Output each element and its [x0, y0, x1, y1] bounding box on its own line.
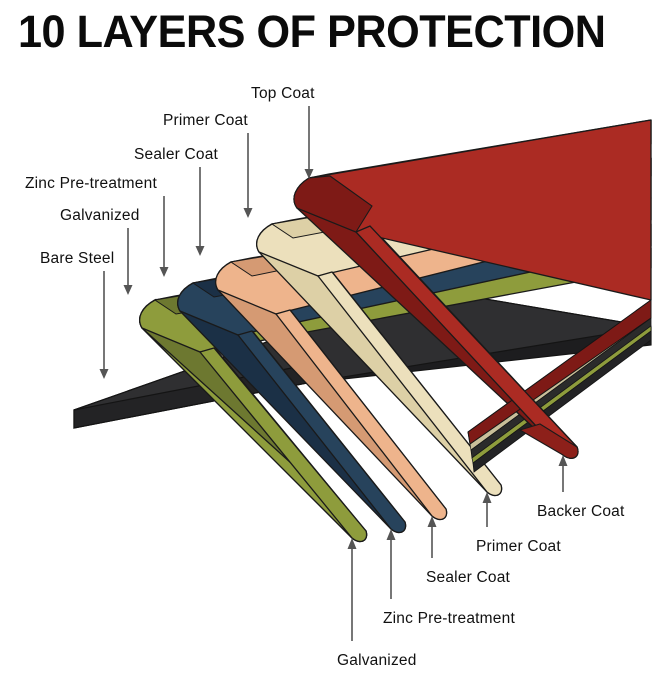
- arrow-primer-coat: [244, 133, 253, 218]
- label-top-coat: Top Coat: [251, 85, 315, 103]
- arrow-bare-steel: [100, 271, 109, 379]
- label-galvanized-bottom: Galvanized: [337, 652, 417, 670]
- label-primer-coat-bottom: Primer Coat: [476, 538, 561, 556]
- label-sealer-coat-bottom: Sealer Coat: [426, 569, 510, 587]
- label-bare-steel: Bare Steel: [40, 250, 114, 268]
- arrow-sealer-coat-bottom: [428, 516, 437, 558]
- diagram-canvas: 10 LAYERS OF PROTECTION: [0, 0, 661, 677]
- arrow-zinc-pretreatment-bottom: [387, 529, 396, 599]
- label-galvanized: Galvanized: [60, 207, 140, 225]
- label-zinc-pre-treatment: Zinc Pre-treatment: [25, 175, 157, 193]
- arrow-galvanized: [124, 228, 133, 295]
- label-backer-coat: Backer Coat: [537, 503, 625, 521]
- arrow-primer-coat-bottom: [483, 492, 492, 527]
- label-primer-coat: Primer Coat: [163, 112, 248, 130]
- arrow-galvanized-bottom: [348, 538, 357, 641]
- arrow-top-coat: [305, 106, 314, 179]
- label-sealer-coat: Sealer Coat: [134, 146, 218, 164]
- layer-stack-illustration: [0, 0, 661, 677]
- arrow-zinc-pretreatment: [160, 196, 169, 277]
- arrow-backer-coat: [559, 455, 568, 492]
- label-zinc-pre-treatment-bottom: Zinc Pre-treatment: [383, 610, 515, 628]
- arrow-sealer-coat: [196, 167, 205, 256]
